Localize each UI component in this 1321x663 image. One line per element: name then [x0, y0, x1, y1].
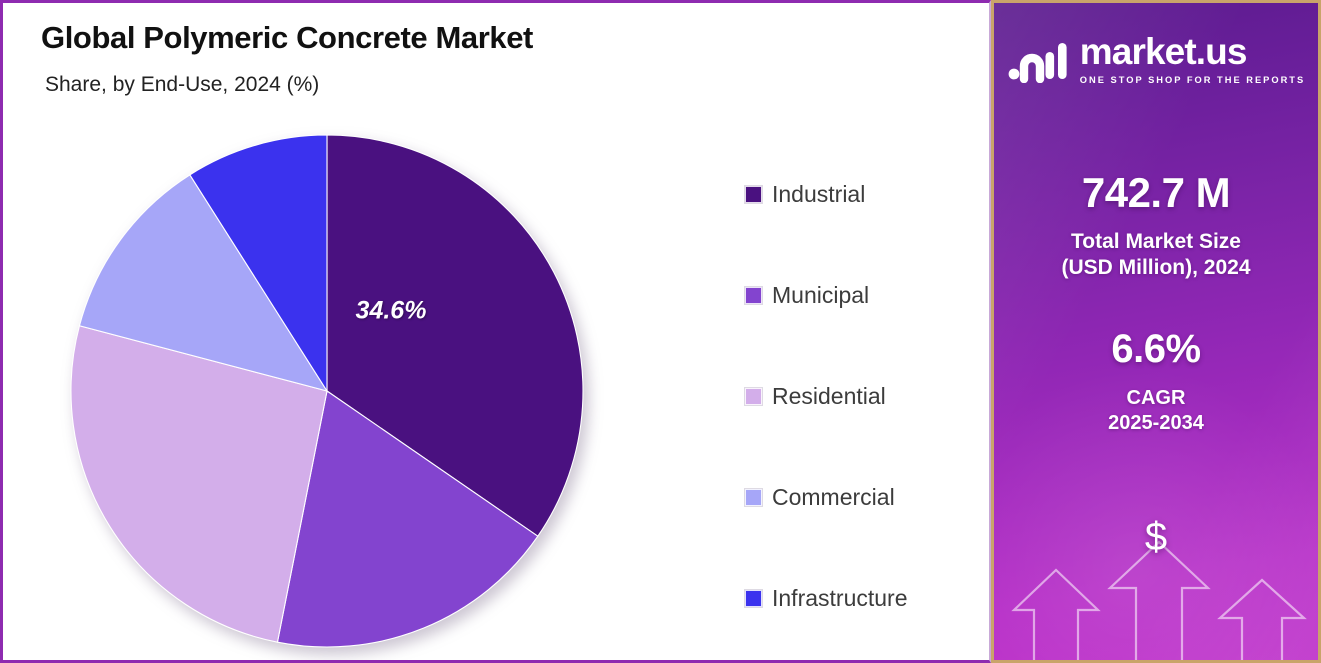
market-us-logo: market.us ONE STOP SHOP FOR THE REPORTS	[994, 33, 1318, 85]
pie-chart-svg	[69, 133, 585, 649]
stat-caption-cagr-line2: 2025-2034	[1108, 412, 1204, 434]
stat-value-cagr: 6.6%	[1006, 328, 1306, 370]
legend-item-label: Residential	[772, 383, 886, 410]
pie-slice-group	[71, 135, 583, 647]
legend-item-industrial[interactable]: Industrial	[745, 144, 975, 245]
arrow-up-right-icon	[1220, 580, 1304, 660]
stat-caption-market-size-line1: Total Market Size	[1071, 230, 1241, 253]
market-us-logo-icon	[1007, 35, 1069, 83]
legend-item-municipal[interactable]: Municipal	[745, 245, 975, 346]
legend-swatch-icon	[745, 489, 762, 506]
stat-caption-cagr-line1: CAGR	[1127, 387, 1186, 409]
brand-wordmark: market.us	[1080, 33, 1305, 70]
chart-panel: Global Polymeric Concrete Market Share, …	[0, 0, 991, 663]
stat-value-market-size: 742.7 M	[1006, 171, 1306, 215]
legend-item-label: Industrial	[772, 181, 865, 208]
chart-legend: IndustrialMunicipalResidentialCommercial…	[745, 144, 975, 649]
infographic-root: Global Polymeric Concrete Market Share, …	[0, 0, 1321, 663]
dollar-sign-icon: $	[1145, 515, 1167, 560]
brand-tagline: ONE STOP SHOP FOR THE REPORTS	[1080, 75, 1305, 85]
legend-item-infrastructure[interactable]: Infrastructure	[745, 548, 975, 649]
legend-swatch-icon	[745, 287, 762, 304]
legend-item-label: Infrastructure	[772, 585, 908, 612]
arrow-up-center-icon	[1110, 542, 1208, 660]
legend-swatch-icon	[745, 590, 762, 607]
growth-arrows-graphic	[994, 500, 1321, 660]
stat-block-market-size: 742.7 M Total Market Size (USD Million),…	[1006, 171, 1306, 280]
stat-caption-cagr: CAGR 2025-2034	[1006, 386, 1306, 435]
brand-panel: market.us ONE STOP SHOP FOR THE REPORTS …	[991, 0, 1321, 663]
legend-item-label: Municipal	[772, 282, 869, 309]
legend-item-residential[interactable]: Residential	[745, 346, 975, 447]
stat-block-cagr: 6.6% CAGR 2025-2034	[1006, 328, 1306, 435]
pie-chart: 34.6%	[69, 133, 585, 649]
chart-subtitle: Share, by End-Use, 2024 (%)	[45, 73, 319, 97]
legend-item-commercial[interactable]: Commercial	[745, 447, 975, 548]
legend-swatch-icon	[745, 186, 762, 203]
chart-title: Global Polymeric Concrete Market	[41, 20, 533, 56]
stat-caption-market-size-line2: (USD Million), 2024	[1061, 256, 1250, 279]
legend-swatch-icon	[745, 388, 762, 405]
brand-stats: 742.7 M Total Market Size (USD Million),…	[994, 171, 1318, 435]
stat-caption-market-size: Total Market Size (USD Million), 2024	[1006, 229, 1306, 280]
legend-item-label: Commercial	[772, 484, 895, 511]
arrow-up-left-icon	[1014, 570, 1098, 660]
brand-wordmark-block: market.us ONE STOP SHOP FOR THE REPORTS	[1080, 33, 1305, 85]
